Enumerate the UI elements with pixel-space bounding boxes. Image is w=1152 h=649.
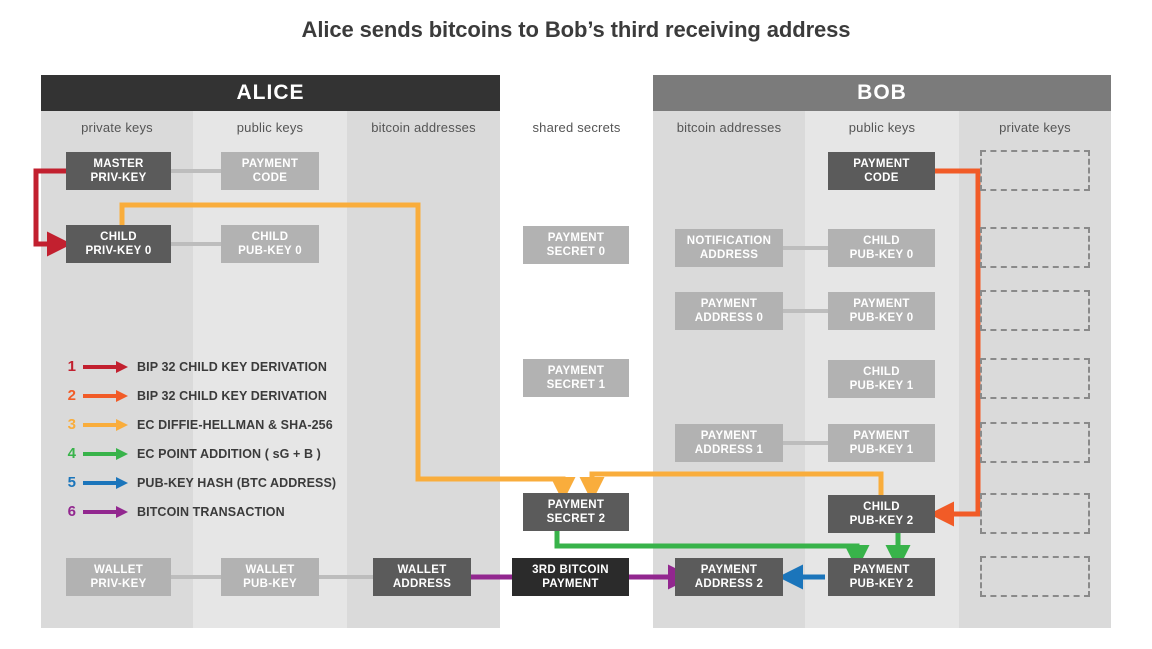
node-bob-child-pub-key-1[interactable]: CHILD PUB-KEY 1 [828,360,935,398]
column-caption-shared-secrets: shared secrets [500,120,653,135]
node-line1: WALLET [94,563,143,577]
node-line2: PUB-KEY 0 [850,311,914,325]
legend-label: EC POINT ADDITION ( sG + B ) [137,447,321,461]
node-line2: PRIV-KEY [90,171,146,185]
node-bob-private-key-placeholder-2 [980,227,1090,268]
legend-label: PUB-KEY HASH (BTC ADDRESS) [137,476,336,490]
node-line2: ADDRESS 1 [695,443,764,457]
node-payment-secret-0[interactable]: PAYMENT SECRET 0 [523,226,629,264]
legend-number: 4 [58,445,76,462]
node-line2: PRIV-KEY 0 [85,244,151,258]
legend-arrow-icon [83,418,129,432]
legend-label: BIP 32 CHILD KEY DERIVATION [137,389,327,403]
node-bob-private-key-placeholder-1 [980,150,1090,191]
node-bob-private-key-placeholder-5 [980,422,1090,463]
diagram-canvas: Alice sends bitcoins to Bob’s third rece… [0,0,1152,649]
node-bob-payment-address-2[interactable]: PAYMENT ADDRESS 2 [675,558,783,596]
node-line1: PAYMENT [548,231,604,245]
legend-arrow-icon [83,447,129,461]
node-bob-payment-address-0[interactable]: PAYMENT ADDRESS 0 [675,292,783,330]
node-line1: CHILD [863,500,900,514]
stripe-alice-bitcoin-addresses [347,110,500,628]
node-bob-payment-pub-key-1[interactable]: PAYMENT PUB-KEY 1 [828,424,935,462]
legend-arrow-icon [83,505,129,519]
legend-arrow-icon [83,360,129,374]
node-alice-wallet-priv-key[interactable]: WALLET PRIV-KEY [66,558,171,596]
node-line2: PAYMENT [542,577,598,591]
panel-header-bob: BOB [653,75,1111,111]
node-line1: PAYMENT [548,364,604,378]
node-line1: PAYMENT [701,429,757,443]
node-line2: PUB-KEY 0 [850,248,914,262]
node-line1: PAYMENT [701,297,757,311]
column-caption-alice-bitcoin-addresses: bitcoin addresses [347,120,500,135]
node-line2: SECRET 2 [547,512,606,526]
node-line2: CODE [864,171,898,185]
column-caption-alice-public-keys: public keys [193,120,347,135]
page-title: Alice sends bitcoins to Bob’s third rece… [0,17,1152,43]
node-line2: ADDRESS [700,248,758,262]
node-line1: PAYMENT [853,429,909,443]
node-line1: PAYMENT [853,297,909,311]
legend-label: BIP 32 CHILD KEY DERIVATION [137,360,327,374]
node-alice-wallet-address[interactable]: WALLET ADDRESS [373,558,471,596]
node-alice-wallet-pub-key[interactable]: WALLET PUB-KEY [221,558,319,596]
legend-label: EC DIFFIE-HELLMAN & SHA-256 [137,418,333,432]
node-bob-private-key-placeholder-4 [980,358,1090,399]
legend-item-6: 6 BITCOIN TRANSACTION [58,497,336,526]
legend-number: 5 [58,474,76,491]
node-line1: MASTER [93,157,143,171]
node-bob-notification-address[interactable]: NOTIFICATION ADDRESS [675,229,783,267]
node-alice-master-priv-key[interactable]: MASTER PRIV-KEY [66,152,171,190]
node-bob-payment-code[interactable]: PAYMENT CODE [828,152,935,190]
node-bob-payment-address-1[interactable]: PAYMENT ADDRESS 1 [675,424,783,462]
node-line2: ADDRESS [393,577,451,591]
node-alice-payment-code[interactable]: PAYMENT CODE [221,152,319,190]
legend-arrow-icon [83,389,129,403]
node-alice-child-priv-key-0[interactable]: CHILD PRIV-KEY 0 [66,225,171,263]
node-line2: PRIV-KEY [90,577,146,591]
node-line1: PAYMENT [548,498,604,512]
node-bob-payment-pub-key-0[interactable]: PAYMENT PUB-KEY 0 [828,292,935,330]
node-line1: CHILD [863,234,900,248]
node-line2: PUB-KEY 0 [238,244,302,258]
node-line2: PUB-KEY 2 [850,577,914,591]
node-line2: PUB-KEY 1 [850,379,914,393]
column-caption-alice-private-keys: private keys [41,120,193,135]
node-line2: ADDRESS 0 [695,311,764,325]
column-caption-bob-bitcoin-addresses: bitcoin addresses [653,120,805,135]
node-alice-child-pub-key-0[interactable]: CHILD PUB-KEY 0 [221,225,319,263]
column-caption-bob-public-keys: public keys [805,120,959,135]
node-line1: CHILD [100,230,137,244]
node-bob-child-pub-key-0[interactable]: CHILD PUB-KEY 0 [828,229,935,267]
node-line1: CHILD [863,365,900,379]
node-payment-secret-1[interactable]: PAYMENT SECRET 1 [523,359,629,397]
node-line2: CODE [253,171,287,185]
legend-item-3: 3 EC DIFFIE-HELLMAN & SHA-256 [58,410,336,439]
node-line2: PUB-KEY 2 [850,514,914,528]
column-caption-bob-private-keys: private keys [959,120,1111,135]
node-line1: CHILD [252,230,289,244]
node-bob-payment-pub-key-2[interactable]: PAYMENT PUB-KEY 2 [828,558,935,596]
node-line1: NOTIFICATION [687,234,772,248]
legend-number: 3 [58,416,76,433]
legend-item-4: 4 EC POINT ADDITION ( sG + B ) [58,439,336,468]
panel-header-alice: ALICE [41,75,500,111]
legend-number: 6 [58,503,76,520]
node-line1: 3RD BITCOIN [532,563,609,577]
legend-label: BITCOIN TRANSACTION [137,505,285,519]
node-line1: PAYMENT [853,563,909,577]
node-line1: WALLET [245,563,294,577]
legend-item-5: 5 PUB-KEY HASH (BTC ADDRESS) [58,468,336,497]
legend-number: 2 [58,387,76,404]
legend: 1 BIP 32 CHILD KEY DERIVATION 2 BIP 32 C… [58,352,336,526]
node-3rd-bitcoin-payment[interactable]: 3RD BITCOIN PAYMENT [512,558,629,596]
legend-item-2: 2 BIP 32 CHILD KEY DERIVATION [58,381,336,410]
node-line1: PAYMENT [701,563,757,577]
legend-item-1: 1 BIP 32 CHILD KEY DERIVATION [58,352,336,381]
node-line2: PUB-KEY 1 [850,443,914,457]
node-bob-private-key-placeholder-3 [980,290,1090,331]
stripe-bob-bitcoin-addresses [653,110,805,628]
node-bob-private-key-placeholder-7 [980,556,1090,597]
node-line2: ADDRESS 2 [695,577,764,591]
node-line1: PAYMENT [853,157,909,171]
node-line1: WALLET [397,563,446,577]
node-line2: PUB-KEY [243,577,297,591]
node-line2: SECRET 0 [547,245,606,259]
node-line1: PAYMENT [242,157,298,171]
node-bob-private-key-placeholder-6 [980,493,1090,534]
node-line2: SECRET 1 [547,378,606,392]
node-bob-child-pub-key-2[interactable]: CHILD PUB-KEY 2 [828,495,935,533]
legend-arrow-icon [83,476,129,490]
legend-number: 1 [58,358,76,375]
node-payment-secret-2[interactable]: PAYMENT SECRET 2 [523,493,629,531]
